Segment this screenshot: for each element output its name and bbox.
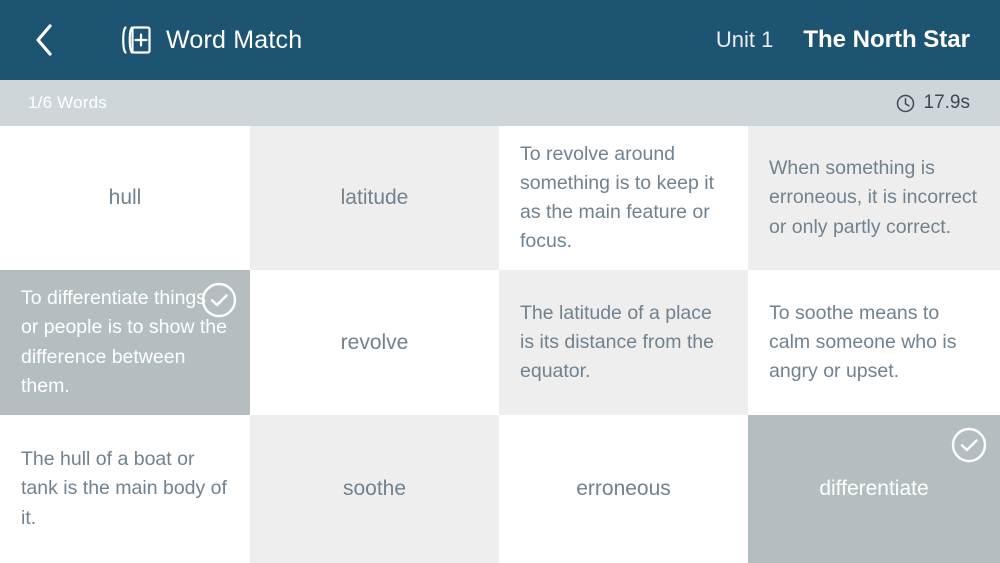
progress-label: 1/6 Words: [28, 93, 107, 113]
clock-icon: [896, 94, 915, 113]
cell-text: To revolve around something is to keep i…: [499, 140, 748, 257]
lesson-info: Unit 1 The North Star: [716, 26, 970, 54]
back-button[interactable]: [22, 18, 66, 62]
check-circle-icon: [951, 427, 987, 463]
word-match-grid: hulllatitudeTo revolve around something …: [0, 126, 1000, 563]
timer-value: 17.9s: [924, 92, 970, 114]
word-cell[interactable]: soothe: [250, 415, 499, 563]
timer: 17.9s: [896, 92, 970, 114]
app-title: Word Match: [166, 26, 302, 55]
chevron-left-icon: [33, 23, 55, 57]
definition-cell[interactable]: To differentiate things or people is to …: [0, 270, 250, 415]
check-circle-icon: [201, 282, 237, 318]
cell-text: When something is erroneous, it is incor…: [748, 154, 1000, 242]
word-cell[interactable]: hull: [0, 126, 250, 270]
lesson-title: The North Star: [803, 26, 970, 54]
cell-text: latitude: [250, 182, 499, 214]
app-header: Word Match Unit 1 The North Star: [0, 0, 1000, 80]
cell-text: soothe: [250, 473, 499, 505]
word-cards-icon: [118, 25, 152, 55]
word-cell[interactable]: latitude: [250, 126, 499, 270]
cell-text: The latitude of a place is its distance …: [499, 299, 748, 387]
app-title-group: Word Match: [118, 25, 302, 55]
cell-text: erroneous: [499, 473, 748, 505]
word-cell[interactable]: differentiate: [748, 415, 1000, 563]
definition-cell[interactable]: The latitude of a place is its distance …: [499, 270, 748, 415]
word-cell[interactable]: erroneous: [499, 415, 748, 563]
cell-text: To soothe means to calm someone who is a…: [748, 299, 1000, 387]
word-cell[interactable]: revolve: [250, 270, 499, 415]
unit-label: Unit 1: [716, 27, 773, 53]
cell-text: differentiate: [748, 473, 1000, 505]
cell-text: hull: [0, 182, 250, 214]
definition-cell[interactable]: The hull of a boat or tank is the main b…: [0, 415, 250, 563]
cell-text: revolve: [250, 327, 499, 359]
status-bar: 1/6 Words 17.9s: [0, 80, 1000, 126]
definition-cell[interactable]: To revolve around something is to keep i…: [499, 126, 748, 270]
definition-cell[interactable]: When something is erroneous, it is incor…: [748, 126, 1000, 270]
cell-text: The hull of a boat or tank is the main b…: [0, 445, 250, 533]
definition-cell[interactable]: To soothe means to calm someone who is a…: [748, 270, 1000, 415]
